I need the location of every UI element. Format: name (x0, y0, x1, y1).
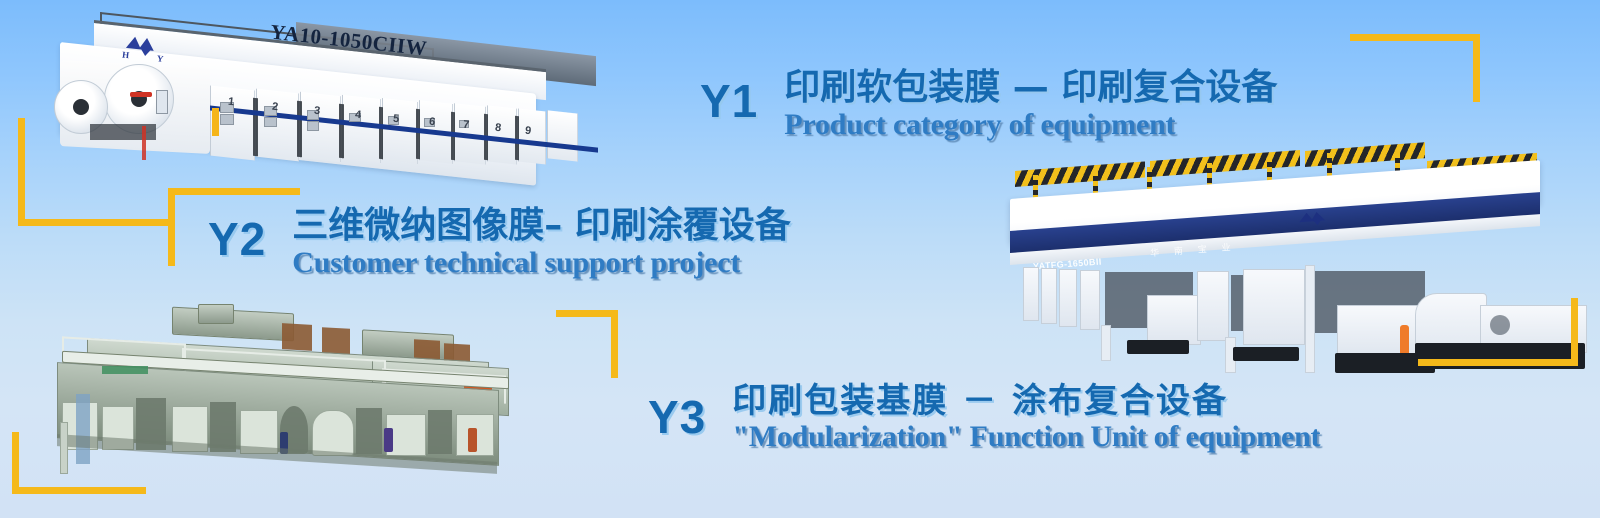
machine-frame (1197, 271, 1229, 341)
machine-base (1233, 347, 1299, 361)
machine-frame (1023, 267, 1039, 321)
dryer-module (322, 327, 350, 355)
film-roll (312, 410, 354, 456)
feature-row-y3: Y3 印刷包装基膜 － 涂布复合设备 "Modularization" Func… (648, 382, 1320, 453)
unit-number: 1 (227, 96, 234, 109)
unit-gap (339, 104, 344, 159)
print-unit (487, 105, 517, 164)
dryer-module (282, 323, 312, 351)
safety-railing (1305, 142, 1425, 167)
operator-figure (384, 428, 393, 452)
bracket-bottom-left (12, 432, 146, 494)
machine-cabinet (1147, 295, 1201, 345)
feature-code-y1: Y1 (700, 78, 758, 124)
safety-railing (1150, 150, 1300, 177)
feature-title-en-y1: Product category of equipment (784, 109, 1277, 141)
unit-number: 5 (392, 113, 399, 126)
print-unit (256, 89, 299, 162)
machine-dark-unit (428, 410, 452, 454)
support-column (1305, 265, 1315, 373)
svg-text:Y: Y (156, 53, 164, 64)
print-unit (547, 110, 578, 161)
feature-title-cn-y2: 三维微纳图像膜– 印刷涂覆设备 (292, 206, 791, 246)
air-duct-stack (198, 304, 234, 324)
green-film-strip (102, 366, 148, 374)
unit-number: 7 (462, 119, 469, 132)
bracket-bottom-right (1418, 298, 1578, 366)
machine-frame (1059, 269, 1077, 327)
hy-brand-logo: H Y (119, 31, 174, 64)
bracket-y2-right (556, 310, 618, 378)
machine-frame (1041, 268, 1057, 324)
feature-code-y2: Y2 (208, 216, 266, 262)
feature-row-y1: Y1 印刷软包装膜 — 印刷复合设备 Product category of e… (700, 68, 1277, 141)
bracket-top-right (1350, 34, 1480, 102)
svg-text:H: H (122, 49, 130, 60)
feature-title-cn-y3: 印刷包装基膜 － 涂布复合设备 (732, 382, 1320, 420)
print-unit (518, 108, 546, 164)
side-panel (156, 90, 168, 114)
machine-cabinet (1243, 269, 1305, 345)
unit-gap (297, 101, 302, 158)
bracket-top-left (18, 118, 168, 226)
unit-gap (416, 109, 420, 159)
machine-frame (1080, 270, 1100, 330)
unit-panel (220, 114, 234, 125)
unit-number: 3 (313, 105, 320, 118)
reel-red-marker (130, 92, 152, 97)
print-unit (342, 95, 381, 163)
unit-number: 9 (524, 125, 531, 138)
reel-hub (73, 99, 89, 115)
unit-panel (307, 121, 319, 131)
unit-number: 2 (271, 101, 278, 114)
feature-title-en-y3: "Modularization" Function Unit of equipm… (732, 421, 1320, 453)
unit-number: 8 (494, 122, 501, 135)
unit-number: 6 (428, 116, 435, 129)
unit-number: 4 (354, 109, 361, 122)
feature-text-y3: 印刷包装基膜 － 涂布复合设备 "Modularization" Functio… (732, 382, 1320, 453)
feature-text-y1: 印刷软包装膜 — 印刷复合设备 Product category of equi… (784, 68, 1277, 141)
feature-title-en-y2: Customer technical support project (292, 247, 791, 279)
feature-row-y2: Y2 三维微纳图像膜– 印刷涂覆设备 Customer technical su… (208, 206, 791, 279)
safety-marker-yellow (212, 108, 219, 136)
feature-code-y3: Y3 (648, 394, 706, 440)
feature-text-y2: 三维微纳图像膜– 印刷涂覆设备 Customer technical suppo… (292, 206, 791, 279)
machine-base (1127, 340, 1189, 354)
unit-gap (379, 107, 383, 159)
manufacturer-logo (1294, 207, 1339, 228)
unit-panel (264, 117, 277, 127)
feature-title-cn-y1: 印刷软包装膜 — 印刷复合设备 (784, 68, 1277, 108)
equipment-banner: H Y YA10-1050CIIW 1 2 3 4 5 6 7 8 9 (0, 0, 1600, 518)
operator-figure (468, 428, 477, 452)
support-column (1101, 325, 1111, 361)
unit-gap (253, 98, 258, 157)
machine-dark-unit (356, 408, 382, 454)
